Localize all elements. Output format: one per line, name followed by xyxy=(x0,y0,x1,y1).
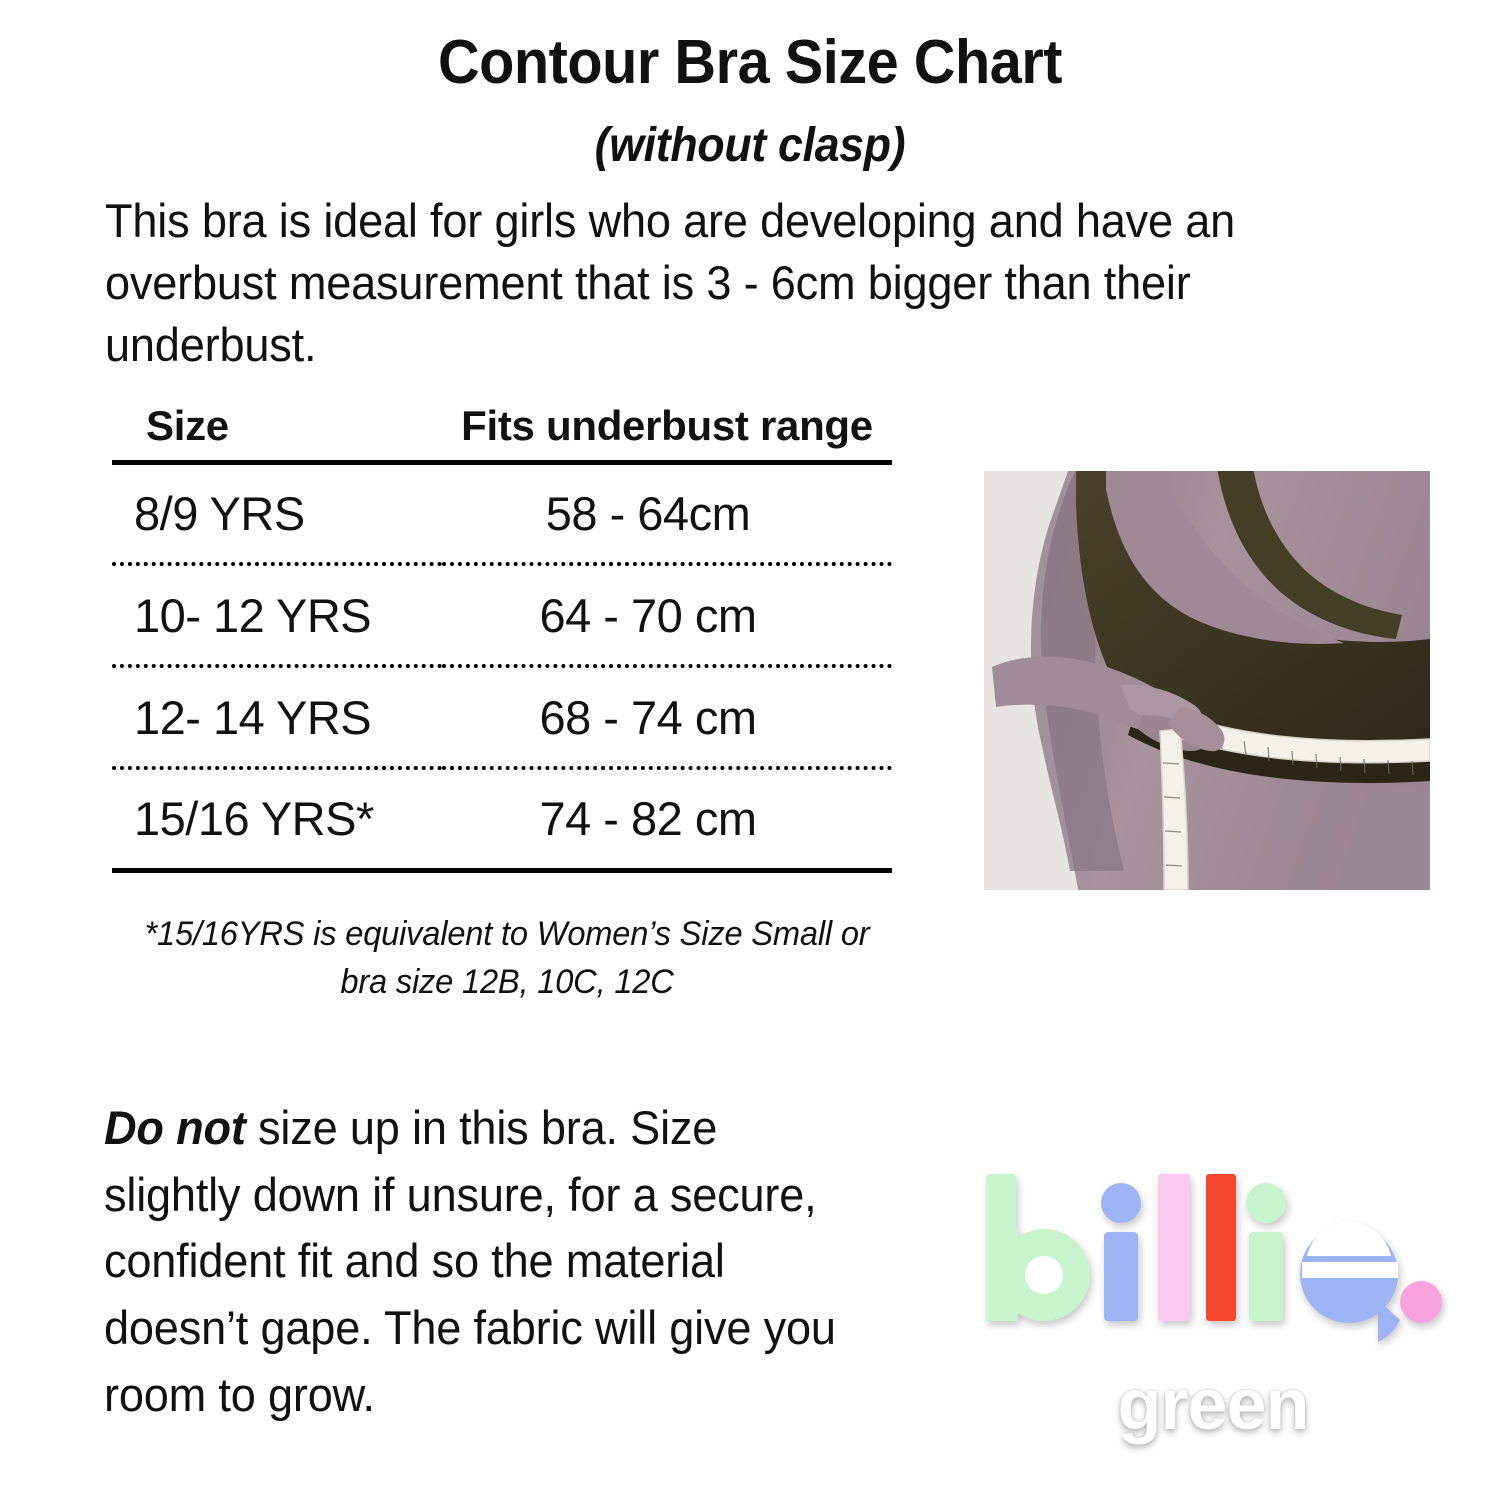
cell-size: 8/9 YRS xyxy=(112,462,442,564)
page-title: Contour Bra Size Chart xyxy=(53,30,1448,95)
table-row: 8/9 YRS 58 - 64cm xyxy=(112,462,892,564)
photo-illustration xyxy=(984,471,1430,890)
intro-paragraph: This bra is ideal for girls who are deve… xyxy=(105,190,1382,376)
closing-emphasis: Do not xyxy=(104,1101,246,1154)
cell-size: 12- 14 YRS xyxy=(112,666,442,768)
table-row: 10- 12 YRS 64 - 70 cm xyxy=(112,564,892,666)
cell-range: 68 - 74 cm xyxy=(442,666,892,768)
table-footnote: *15/16YRS is equivalent to Women’s Size … xyxy=(128,910,886,1007)
cell-range: 74 - 82 cm xyxy=(442,768,892,870)
table-header-row: Size Fits underbust range xyxy=(112,392,892,462)
table-row: 15/16 YRS* 74 - 82 cm xyxy=(112,768,892,870)
logo-letter-i-2 xyxy=(1246,1183,1286,1321)
cell-range: 58 - 64cm xyxy=(442,462,892,564)
table-row: 12- 14 YRS 68 - 74 cm xyxy=(112,666,892,768)
size-chart-table: Size Fits underbust range 8/9 YRS 58 - 6… xyxy=(112,392,892,873)
cell-range: 64 - 70 cm xyxy=(442,564,892,666)
logo-letter-e xyxy=(1300,1222,1400,1342)
column-header-size: Size xyxy=(112,392,442,462)
billie-wordmark xyxy=(978,1168,1448,1368)
brand-logo: green xyxy=(978,1168,1448,1438)
logo-dot xyxy=(1400,1281,1442,1323)
logo-letter-l-2 xyxy=(1206,1174,1236,1321)
closing-paragraph: Do not size up in this bra. Size slightl… xyxy=(104,1095,862,1429)
page-subtitle: (without clasp) xyxy=(53,118,1448,173)
logo-letter-b xyxy=(986,1174,1090,1321)
cell-size: 15/16 YRS* xyxy=(112,768,442,870)
logo-letter-l-1 xyxy=(1158,1174,1190,1321)
underbust-measurement-photo xyxy=(984,471,1430,890)
column-header-range: Fits underbust range xyxy=(442,392,892,462)
logo-letter-i-1 xyxy=(1101,1183,1141,1321)
cell-size: 10- 12 YRS xyxy=(112,564,442,666)
logo-subword: green xyxy=(978,1364,1448,1446)
